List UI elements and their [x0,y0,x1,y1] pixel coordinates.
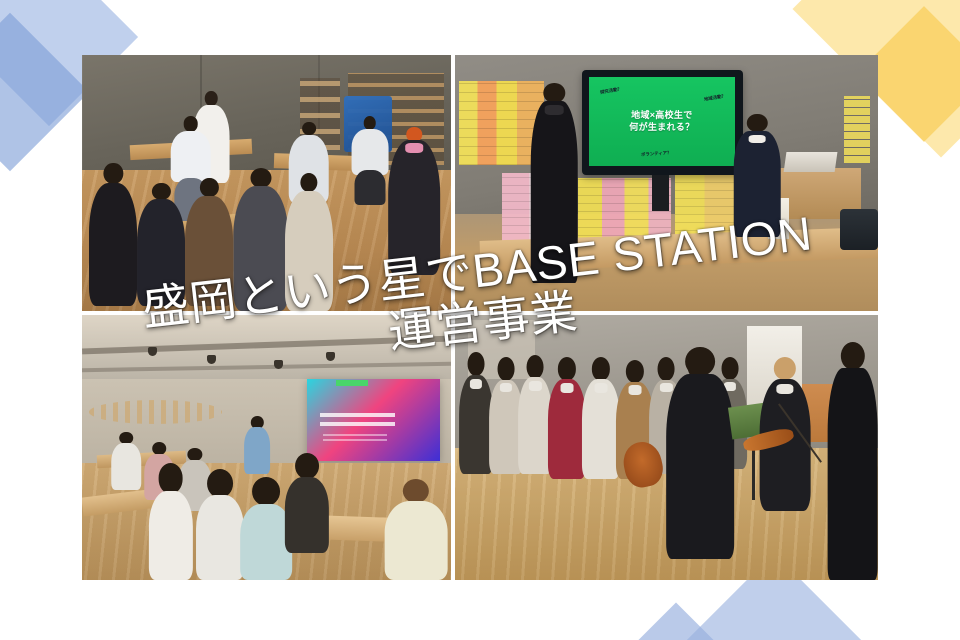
photo-concert-foreground-performer [827,342,878,581]
photo-presentation-person-right [734,114,781,237]
photo-concert [455,315,878,580]
photo-concert-cellist [667,347,735,559]
photo-workshop-person [137,183,185,306]
photo-presentation-laptop [784,152,838,172]
slide-note-top-right: 地域活動？ [704,93,727,103]
slide-note-bottom: ボランティア？ [641,150,672,158]
photo-workshop-person [351,116,388,203]
photo-presentation-monitor-stand [652,175,669,211]
photo-seminar-attendee [112,432,142,490]
photo-presentation-slide-screen: 探究活動？ 地域活動？ 地域×高校生で 何が生まれる？ ボランティア？ [589,77,735,167]
photo-collage: 探究活動？ 地域活動？ 地域×高校生で 何が生まれる？ ボランティア？ [82,55,878,580]
photo-workshop-person [89,163,137,306]
photo-seminar-spotlight [274,360,283,369]
photo-presentation-speaker-box [840,209,878,250]
photo-workshop-person [233,168,288,311]
photo-concert-audience [548,357,586,479]
slide-note-top-left: 探究活動？ [600,87,623,97]
photo-workshop-person [388,127,440,275]
photo-seminar-staff-foreground [385,479,448,580]
photo-seminar-attendee-foreground [285,453,329,554]
photo-seminar-attendee-foreground [148,463,192,580]
photo-seminar-screen-band [336,380,368,386]
photo-concert-audience [582,357,620,479]
photo-seminar-screen-title-block [320,408,394,426]
photo-workshop-person [185,178,233,306]
photo-seminar-screen-subtitle-block [323,431,387,441]
slide-headline-line1: 地域×高校生で [631,110,692,121]
photo-presentation-person-left [531,83,578,283]
photo-workshop-person [285,173,333,311]
slide-headline-line2: 何が生まれる？ [629,122,694,133]
photo-presentation-sticky-notes-right [675,173,734,240]
photo-seminar-projection-screen [307,379,440,461]
photo-seminar-spotlight [326,352,335,361]
photo-seminar-speaker [244,416,270,474]
photo-workshop [82,55,451,311]
photo-seminar-wall-garland [89,400,222,424]
photo-presentation: 探究活動？ 地域活動？ 地域×高校生で 何が生まれる？ ボランティア？ [455,55,878,311]
slide-canvas: 探究活動？ 地域活動？ 地域×高校生で 何が生まれる？ ボランティア？ [0,0,960,640]
photo-presentation-sticky-notes-far-right [844,96,869,163]
photo-seminar-attendee-foreground [196,469,244,580]
photo-seminar [82,315,451,580]
